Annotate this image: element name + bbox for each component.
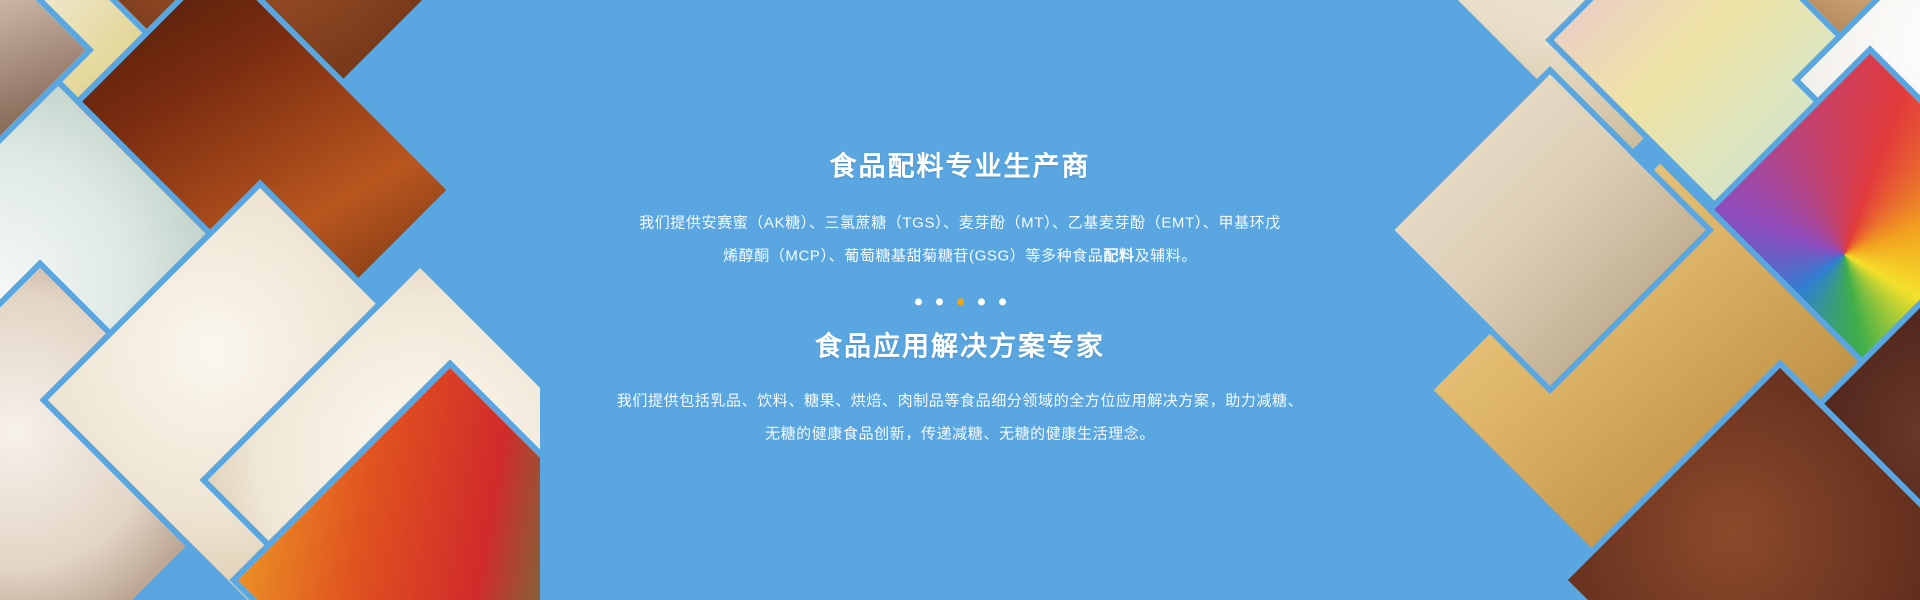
content-block-solutions: 食品应用解决方案专家 我们提供包括乳品、饮料、糖果、烘焙、肉制品等食品细分领域的… bbox=[520, 330, 1400, 451]
promo-banner: 食品配料专业生产商 我们提供安赛蜜（AK糖）、三氯蔗糖（TGS）、麦芽酚（MT）… bbox=[0, 0, 1920, 600]
content-block-manufacturer: 食品配料专业生产商 我们提供安赛蜜（AK糖）、三氯蔗糖（TGS）、麦芽酚（MT）… bbox=[520, 149, 1400, 272]
solutions-line-2: 无糖的健康食品创新，传递减糖、无糖的健康生活理念。 bbox=[765, 426, 1155, 443]
paragraph-manufacturer: 我们提供安赛蜜（AK糖）、三氯蔗糖（TGS）、麦芽酚（MT）、乙基麦芽酚（EMT… bbox=[520, 207, 1400, 273]
divider-dot-2 bbox=[936, 299, 943, 306]
divider-dot-4 bbox=[978, 299, 985, 306]
divider-dot-1 bbox=[915, 299, 922, 306]
paragraph-line-1: 我们提供安赛蜜（AK糖）、三氯蔗糖（TGS）、麦芽酚（MT）、乙基麦芽酚（EMT… bbox=[639, 215, 1281, 232]
solutions-line-1: 我们提供包括乳品、饮料、糖果、烘焙、肉制品等食品细分领域的全方位应用解决方案，助… bbox=[617, 393, 1303, 410]
banner-content: 食品配料专业生产商 我们提供安赛蜜（AK糖）、三氯蔗糖（TGS）、麦芽酚（MT）… bbox=[520, 149, 1400, 450]
divider-dot-accent bbox=[957, 299, 964, 306]
paragraph-line-3: 及辅料。 bbox=[1135, 248, 1197, 265]
headline-manufacturer: 食品配料专业生产商 bbox=[520, 149, 1400, 184]
right-photo-mosaic bbox=[1380, 0, 1920, 600]
divider-dot-5 bbox=[999, 299, 1006, 306]
paragraph-line-2: 烯醇酮（MCP）、葡萄糖基甜菊糖苷(GSG）等多种食品 bbox=[723, 248, 1103, 265]
paragraph-solutions: 我们提供包括乳品、饮料、糖果、烘焙、肉制品等食品细分领域的全方位应用解决方案，助… bbox=[520, 385, 1400, 451]
paragraph-emphasis: 配料 bbox=[1103, 248, 1134, 265]
headline-solutions: 食品应用解决方案专家 bbox=[520, 330, 1400, 365]
left-photo-mosaic bbox=[0, 0, 540, 600]
dot-divider bbox=[520, 299, 1400, 306]
